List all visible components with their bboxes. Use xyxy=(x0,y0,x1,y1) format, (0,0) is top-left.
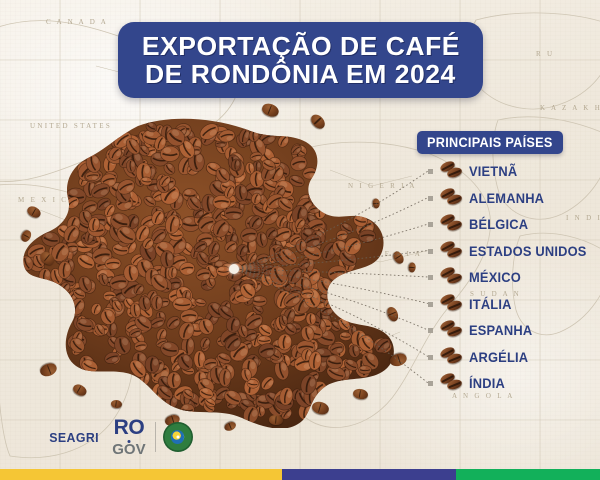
country-list-item[interactable]: ALEMANHA xyxy=(440,185,600,212)
brasao-seal-icon xyxy=(163,422,193,452)
route-node-marker xyxy=(428,196,433,201)
title-badge: EXPORTAÇÃO DE CAFÉ DE RONDÔNIA EM 2024 xyxy=(118,22,483,98)
coffee-bean xyxy=(310,400,329,416)
country-name-label: ESTADOS UNIDOS xyxy=(469,243,587,259)
gov-logo-label: GOV xyxy=(112,442,145,457)
country-name-label: ARGÉLIA xyxy=(469,349,528,365)
bottom-bar-segment-blue xyxy=(282,469,456,480)
seal-star xyxy=(176,436,179,439)
coffee-bean xyxy=(372,199,380,210)
logo-divider xyxy=(155,422,156,452)
coffee-bean xyxy=(269,414,284,425)
route-node-marker xyxy=(428,222,433,227)
coffee-bean xyxy=(309,112,328,131)
country-name-label: VIETNÃ xyxy=(469,163,517,179)
coffee-bean-bullet-icon xyxy=(440,214,464,234)
country-list-item[interactable]: ESPANHA xyxy=(440,317,600,344)
ro-logo-label: RO xyxy=(114,416,145,439)
coffee-bean-bullet-icon xyxy=(440,241,464,261)
principais-paises-heading-badge: PRINCIPAIS PAÍSES xyxy=(417,131,563,154)
ro-gov-logo: RO GOV xyxy=(112,417,145,457)
coffee-bean-bullet-icon xyxy=(440,267,464,287)
coffee-bean xyxy=(408,263,416,274)
country-name-label: ITÁLIA xyxy=(469,296,512,312)
coffee-bean xyxy=(25,204,42,220)
country-list: VIETNÃALEMANHABÉLGICAESTADOS UNIDOSMÉXIC… xyxy=(440,158,600,397)
coffee-bean-bullet-icon xyxy=(440,373,464,393)
bottom-bar-segment-green xyxy=(456,469,600,480)
route-node-marker xyxy=(428,275,433,280)
coffee-bean-bullet-icon xyxy=(440,188,464,208)
map-label: C A N A D A xyxy=(46,18,108,26)
rondonia-coffee-bean-map xyxy=(20,108,420,428)
route-node-marker xyxy=(428,249,433,254)
coffee-bean-bullet-icon xyxy=(440,320,464,340)
title-line-1: EXPORTAÇÃO DE CAFÉ xyxy=(141,32,459,60)
coffee-bean xyxy=(388,352,408,368)
coffee-bean xyxy=(72,382,89,397)
map-label: R U xyxy=(536,50,554,58)
country-list-item[interactable]: ESTADOS UNIDOS xyxy=(440,238,600,265)
country-name-label: ÍNDIA xyxy=(469,375,505,391)
route-node-marker xyxy=(428,381,433,386)
country-list-item[interactable]: VIETNÃ xyxy=(440,158,600,185)
coffee-bean-bullet-icon xyxy=(440,347,464,367)
country-list-item[interactable]: ÍNDIA xyxy=(440,370,600,397)
country-list-item[interactable]: MÉXICO xyxy=(440,264,600,291)
title-line-2: DE RONDÔNIA EM 2024 xyxy=(145,60,456,88)
seagri-logo-text: SEAGRI xyxy=(49,430,99,445)
map-label: K A Z A K H S xyxy=(540,104,600,112)
ro-logo-dot xyxy=(127,440,130,443)
route-node-marker xyxy=(428,302,433,307)
coffee-bean xyxy=(352,388,368,401)
coffee-bean-bullet-icon xyxy=(440,294,464,314)
country-name-label: MÉXICO xyxy=(469,269,521,285)
country-name-label: ALEMANHA xyxy=(469,190,544,206)
country-list-item[interactable]: ITÁLIA xyxy=(440,291,600,318)
ro-logo-text: RO xyxy=(114,417,145,438)
coffee-bean xyxy=(391,250,405,266)
country-list-item[interactable]: ARGÉLIA xyxy=(440,344,600,371)
coffee-bean-bullet-icon xyxy=(440,161,464,181)
bottom-bar-segment-yellow xyxy=(0,469,282,480)
route-node-marker xyxy=(428,169,433,174)
country-name-label: BÉLGICA xyxy=(469,216,528,232)
route-node-marker xyxy=(428,328,433,333)
principais-paises-heading-label: PRINCIPAIS PAÍSES xyxy=(427,135,553,150)
coffee-bean xyxy=(39,249,58,267)
coffee-bean xyxy=(384,305,399,323)
country-list-item[interactable]: BÉLGICA xyxy=(440,211,600,238)
route-origin-hub xyxy=(229,264,239,274)
bottom-color-bar xyxy=(0,469,600,480)
infographic-canvas: UNITED STATESM E X I C OR UK A Z A K H S… xyxy=(0,0,600,480)
route-node-marker xyxy=(428,355,433,360)
coffee-bean-fill xyxy=(20,108,420,428)
coffee-bean xyxy=(110,400,122,409)
footer-logo-group: SEAGRI RO GOV xyxy=(48,418,193,456)
coffee-bean xyxy=(38,361,58,378)
country-name-label: ESPANHA xyxy=(469,322,532,338)
coffee-bean xyxy=(19,228,33,243)
